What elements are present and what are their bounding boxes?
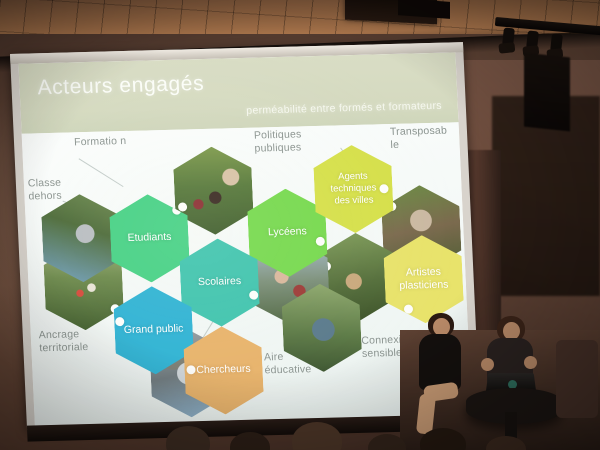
callout-aire-educative: Aire éducative [264, 350, 329, 377]
hexagon-label: Scolaires [198, 275, 242, 289]
hexagon-label: Chercheurs [196, 363, 251, 378]
callout-classe-dehors: Classe dehors [28, 176, 93, 203]
hexagon-label: Lycéens [268, 226, 307, 240]
spotlight-icon [550, 33, 563, 52]
callout-transposable: Transposab le [390, 124, 455, 151]
room-scene: Acteurs engagés perméabilité entre formé… [0, 0, 600, 450]
slide-title: Acteurs engagés [37, 72, 205, 100]
spotlight-icon [526, 30, 539, 49]
callout-politiques-publiques: Politiques publiques [254, 128, 317, 155]
wall-speaker [524, 53, 570, 132]
spotlight-icon [502, 27, 515, 46]
chair [556, 340, 598, 418]
hexagon-label: Artistes plasticiens [392, 265, 455, 293]
audience [120, 412, 600, 450]
hexagon-label: Grand public [124, 323, 184, 338]
hexagon-label: Agents techniques des villes [322, 170, 386, 207]
callout-formation: Formatio n [74, 135, 139, 149]
hexagon-label: Etudiants [127, 231, 171, 245]
callout-ancrage-territoriale: Ancrage territoriale [39, 328, 104, 355]
